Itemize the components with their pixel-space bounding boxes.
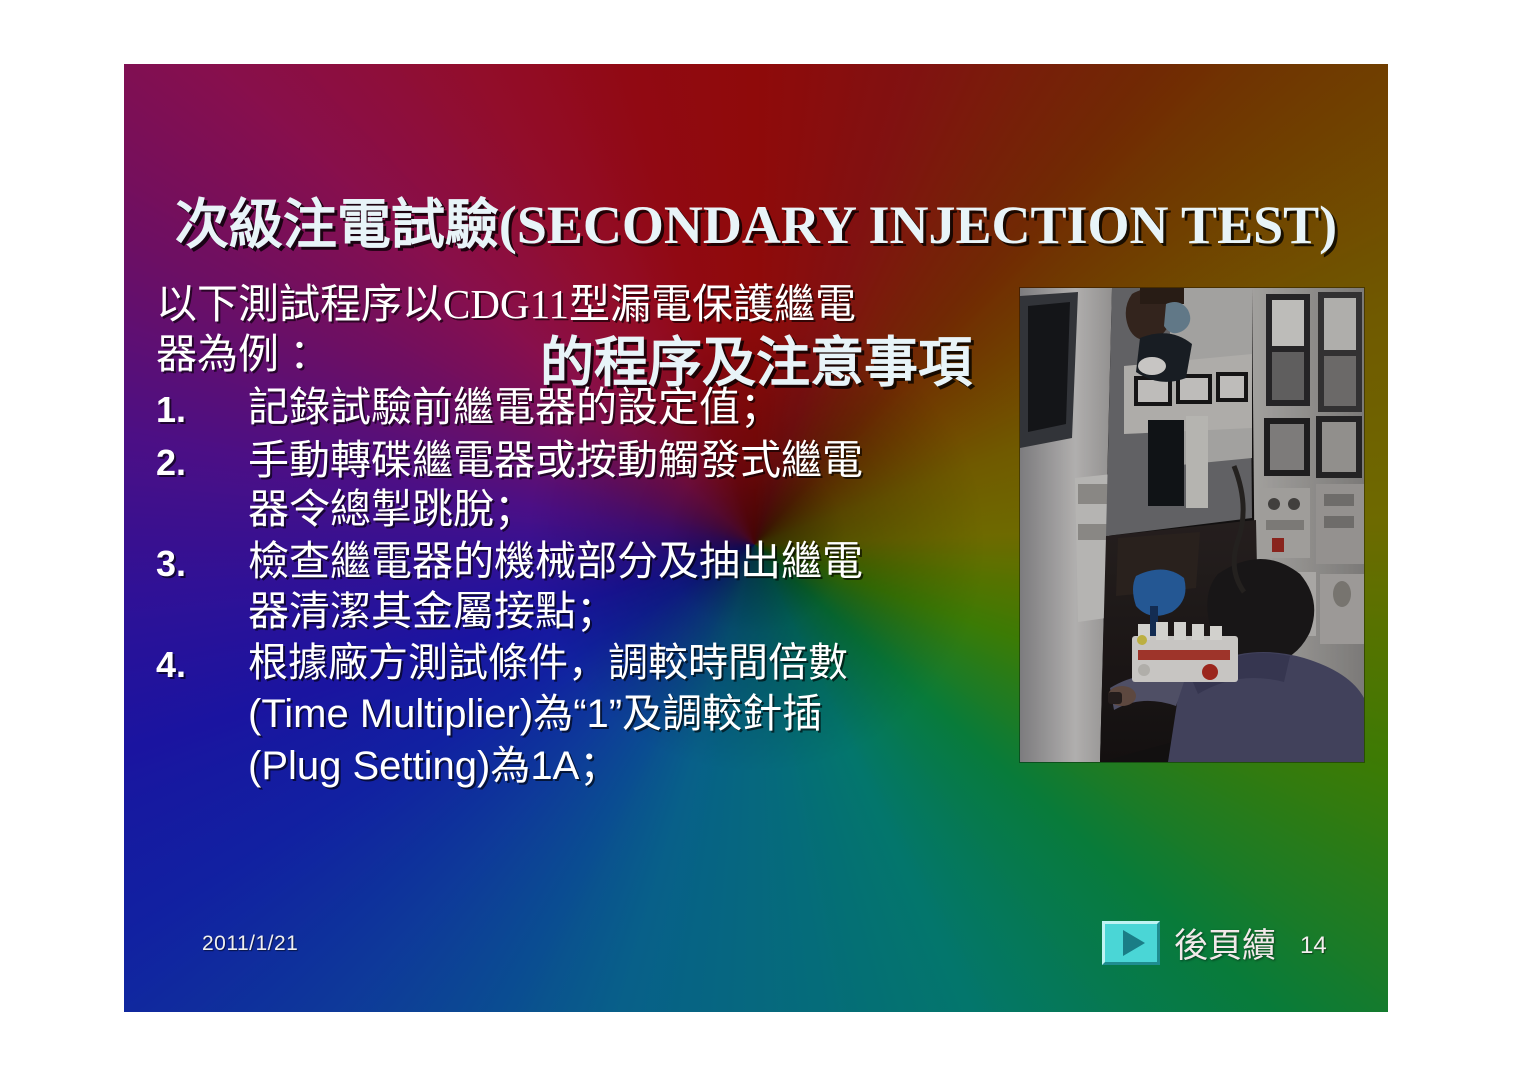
list-item-text: 記錄試驗前繼電器的設定值；: [248, 383, 896, 433]
list-item-text: 檢查繼電器的機械部分及抽出繼電器清潔其金屬接點；: [248, 537, 896, 636]
next-page-control[interactable]: 後頁續: [1102, 918, 1276, 967]
list-item-marker: 4.: [156, 638, 248, 689]
list-item: 3. 檢查繼電器的機械部分及抽出繼電器清潔其金屬接點；: [156, 537, 896, 636]
switchgear-room-photo: [1020, 288, 1364, 762]
play-triangle-icon[interactable]: [1102, 921, 1160, 965]
slide-canvas: 次級注電試驗(SECONDARY INJECTION TEST) 的程序及注意事…: [124, 64, 1388, 1012]
list-item: 1. 記錄試驗前繼電器的設定值；: [156, 383, 896, 434]
play-triangle-glyph: [1123, 930, 1145, 956]
slide-title-line-1: 次級注電試驗(SECONDARY INJECTION TEST): [144, 191, 1368, 260]
list-item-text: 根據廠方測試條件，調較時間倍數(Time Multiplier)為“1”及調較針…: [248, 638, 896, 792]
list-item-marker: 1.: [156, 383, 248, 434]
list-item: 2. 手動轉碟繼電器或按動觸發式繼電器令總掣跳脫；: [156, 436, 896, 535]
procedure-list: 1. 記錄試驗前繼電器的設定值； 2. 手動轉碟繼電器或按動觸發式繼電器令總掣跳…: [156, 383, 896, 792]
list-item-marker: 3.: [156, 537, 248, 588]
list-item: 4. 根據廠方測試條件，調較時間倍數(Time Multiplier)為“1”及…: [156, 638, 896, 792]
slide-body: 以下測試程序以CDG11型漏電保護繼電器為例 ： 1. 記錄試驗前繼電器的設定值…: [156, 279, 896, 794]
next-page-label: 後頁續: [1174, 918, 1276, 967]
list-item-marker: 2.: [156, 436, 248, 487]
page-number: 14: [1300, 932, 1327, 960]
footer-date: 2011/1/21: [202, 932, 298, 956]
intro-paragraph: 以下測試程序以CDG11型漏電保護繼電器為例 ：: [156, 279, 896, 379]
list-item-text: 手動轉碟繼電器或按動觸發式繼電器令總掣跳脫；: [248, 436, 896, 535]
